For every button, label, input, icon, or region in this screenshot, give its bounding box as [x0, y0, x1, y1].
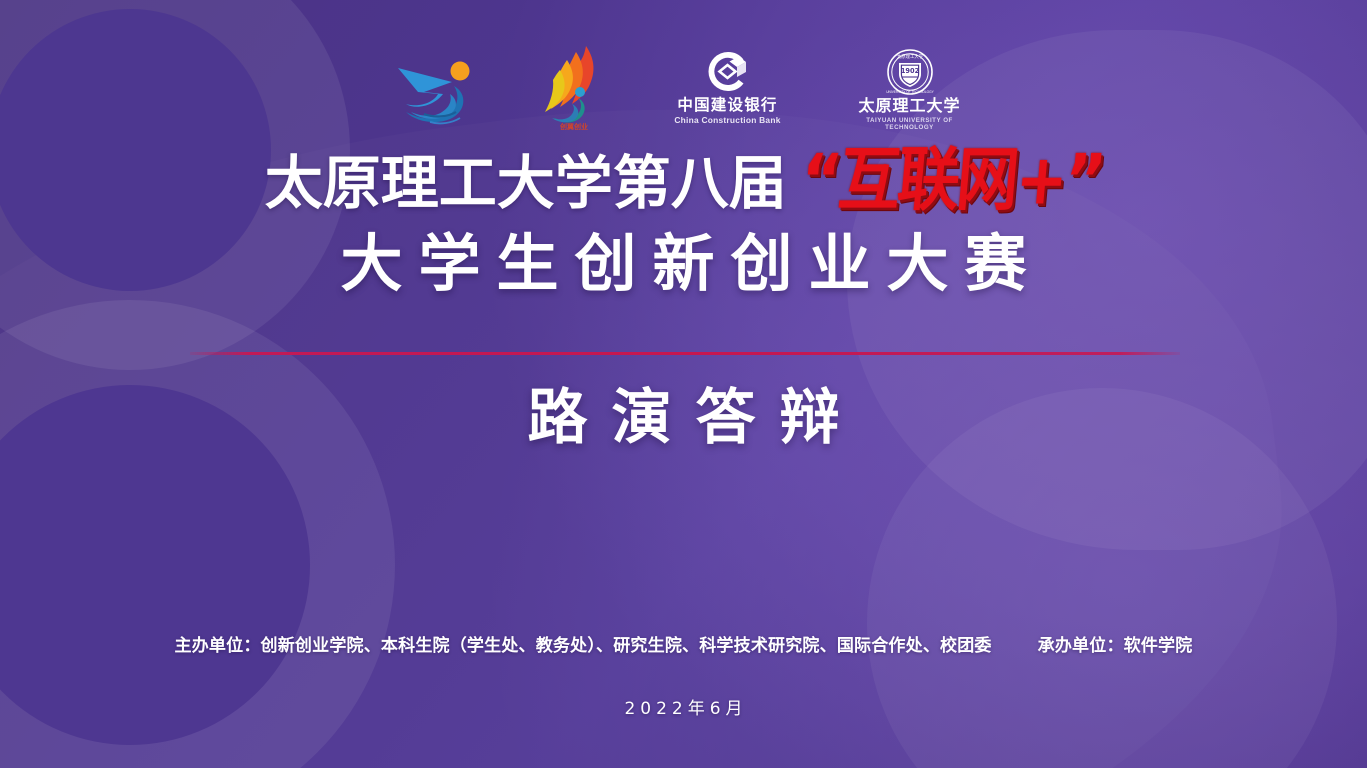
flame-emblem-icon: 创翼创业 [538, 44, 610, 134]
headline-line-1-main: 太原理工大学第八届 [265, 154, 787, 212]
innovation-entrepreneurship-emblem-icon [394, 52, 486, 134]
taiyuan-university-of-technology-logo: 1902 太原理工大学 UNIVERSITY OF TECHNOLOGY 太原理… [846, 48, 974, 134]
headline-accent-internet-plus: “互联网+” [798, 145, 1106, 214]
tut-name-cn: 太原理工大学 [846, 98, 974, 115]
svg-text:太原理工大学: 太原理工大学 [896, 53, 923, 60]
ccb-name-cn: 中国建设银行 [662, 97, 794, 114]
headline-block: 太原理工大学第八届 “互联网+” 大学生创新创业大赛 [0, 141, 1367, 298]
footer-organizers: 主办单位：创新创业学院、本科生院（学生处、教务处）、研究生院、科学技术研究院、国… [175, 631, 992, 656]
poster-canvas: 创翼创业 中国建设银行 China Construction Bank 1902 [0, 0, 1367, 768]
ccb-name-en: China Construction Bank [662, 115, 794, 125]
china-construction-bank-logo: 中国建设银行 China Construction Bank [662, 50, 794, 134]
headline-line-3-subtitle: 路演答辩 [0, 382, 1367, 454]
headline-line-1: 太原理工大学第八届 “互联网+” [0, 141, 1367, 225]
sponsor-logo-row: 创翼创业 中国建设银行 China Construction Bank 1902 [0, 44, 1367, 134]
headline-line-2: 大学生创新创业大赛 [0, 229, 1367, 298]
svg-text:1902: 1902 [900, 67, 919, 75]
headline-divider [190, 352, 1180, 355]
tut-name-en: TAIYUAN UNIVERSITY OF TECHNOLOGY [846, 117, 974, 131]
svg-text:UNIVERSITY OF TECHNOLOGY: UNIVERSITY OF TECHNOLOGY [886, 90, 934, 94]
footer-organizers-row: 主办单位：创新创业学院、本科生院（学生处、教务处）、研究生院、科学技术研究院、国… [0, 631, 1367, 656]
footer-host: 承办单位：软件学院 [1038, 631, 1193, 656]
footer-date: 2022年6月 [0, 694, 1367, 719]
svg-text:创翼创业: 创翼创业 [559, 122, 588, 130]
